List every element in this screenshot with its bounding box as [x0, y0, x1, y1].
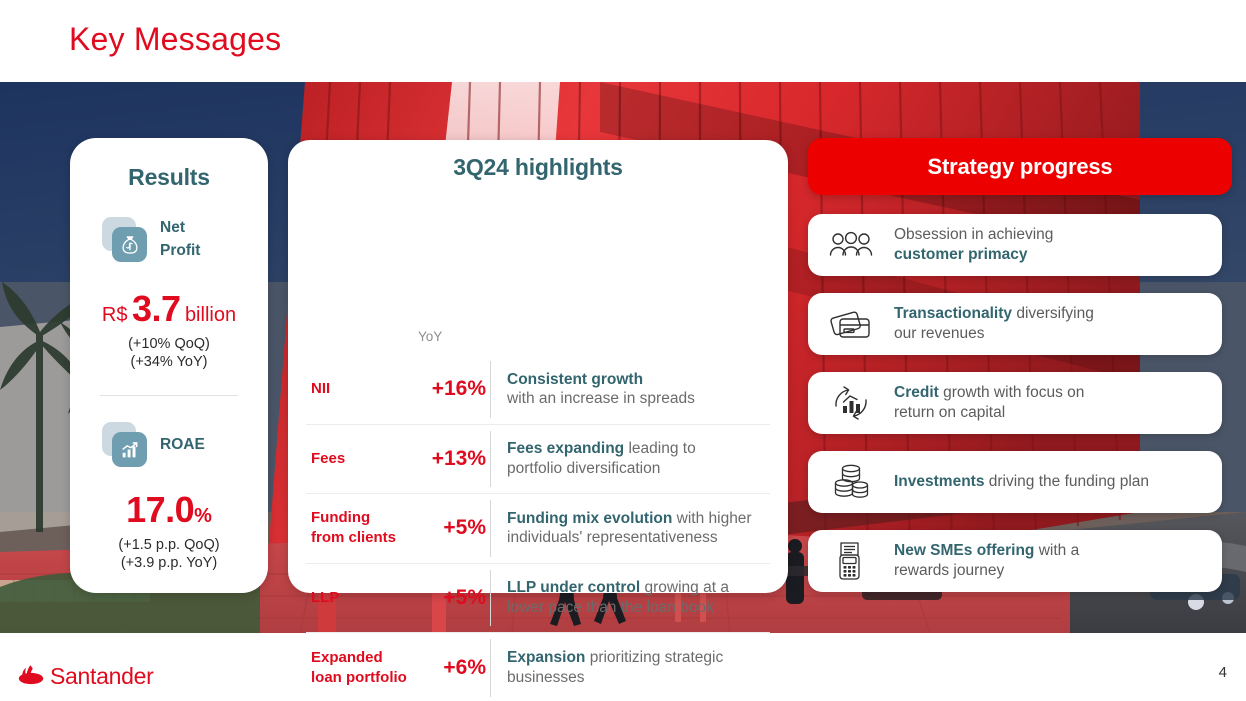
metric-net-profit-header: Net Profit — [82, 217, 256, 262]
highlight-description: Funding mix evolution with higher indivi… — [491, 509, 752, 548]
highlight-description: LLP under control growing at a lower pac… — [491, 578, 729, 617]
results-card-divider — [100, 395, 238, 396]
highlight-label: Expanded loan portfolio — [306, 648, 412, 688]
money-bag-icon — [102, 217, 147, 262]
highlight-description: Consistent growth with an increase in sp… — [491, 370, 695, 409]
highlight-percent: +13% — [412, 447, 490, 471]
list-item-text: Transactionality diversifying our revenu… — [878, 304, 1094, 345]
people-group-icon — [824, 230, 878, 260]
metric-roae-header: ROAE — [82, 422, 256, 467]
highlights-card: 3Q24 highlights YoY NII +16% Consistent … — [288, 140, 788, 593]
table-row: Expanded loan portfolio +6% Expansion pr… — [306, 633, 770, 701]
credit-growth-cycle-icon — [824, 384, 878, 422]
highlight-label: LLP — [306, 588, 412, 608]
page-title: Key Messages — [69, 19, 281, 59]
roae-unit: % — [194, 505, 212, 527]
metric-net-profit-value: R$ 3.7 billion — [82, 288, 256, 330]
highlight-description: Expansion prioritizing strategic busines… — [491, 648, 723, 687]
credit-cards-icon — [824, 308, 878, 340]
metric-roae-sub: (+1.5 p.p. QoQ) (+3.9 p.p. YoY) — [82, 536, 256, 572]
list-item-text: Credit growth with focus on return on ca… — [878, 383, 1084, 424]
results-card: Results Net Profit R$ — [70, 138, 268, 593]
strategy-progress-list: Obsession in achieving customer primacy … — [808, 214, 1222, 609]
highlight-percent: +5% — [412, 586, 490, 610]
results-card-title: Results — [82, 164, 256, 191]
table-row: Funding from clients +5% Funding mix evo… — [306, 494, 770, 564]
highlight-percent: +6% — [412, 656, 490, 680]
page-number: 4 — [1219, 664, 1227, 681]
list-item[interactable]: Credit growth with focus on return on ca… — [808, 372, 1222, 434]
santander-flame-icon — [18, 662, 44, 691]
highlights-rows: NII +16% Consistent growth with an incre… — [306, 355, 770, 585]
list-item[interactable]: New SMEs offering with a rewards journey — [808, 530, 1222, 592]
table-row: NII +16% Consistent growth with an incre… — [306, 355, 770, 425]
metric-roae-value: 17.0% — [82, 489, 256, 531]
metric-net-profit-label: Net Profit — [160, 217, 200, 262]
strategy-progress-header: Strategy progress — [808, 138, 1232, 195]
bar-chart-growth-icon — [102, 422, 147, 467]
highlights-column-label: YoY — [418, 329, 442, 344]
santander-logo: Santander — [18, 662, 153, 691]
roae-number: 17.0 — [126, 489, 194, 530]
list-item[interactable]: Transactionality diversifying our revenu… — [808, 293, 1222, 355]
slide-root: Key Messages — [0, 0, 1246, 701]
coin-stacks-icon — [824, 463, 878, 501]
table-row: Fees +13% Fees expanding leading to port… — [306, 425, 770, 495]
highlight-label: NII — [306, 379, 412, 399]
highlight-description: Fees expanding leading to portfolio dive… — [491, 439, 696, 478]
net-profit-unit: billion — [185, 304, 236, 326]
list-item[interactable]: Obsession in achieving customer primacy — [808, 214, 1222, 276]
metric-net-profit-sub: (+10% QoQ) (+34% YoY) — [82, 335, 256, 371]
highlight-percent: +5% — [412, 516, 490, 540]
pos-terminal-receipt-icon — [824, 540, 878, 582]
santander-wordmark: Santander — [50, 665, 153, 688]
table-row: LLP +5% LLP under control growing at a l… — [306, 564, 770, 634]
net-profit-currency: R$ — [102, 304, 128, 326]
highlight-label: Funding from clients — [306, 508, 412, 548]
list-item-text: New SMEs offering with a rewards journey — [878, 541, 1079, 582]
list-item-text: Investments driving the funding plan — [878, 472, 1149, 492]
list-item-text: Obsession in achieving customer primacy — [878, 225, 1053, 266]
metric-roae-label: ROAE — [160, 434, 205, 456]
highlight-percent: +16% — [412, 377, 490, 401]
list-item[interactable]: Investments driving the funding plan — [808, 451, 1222, 513]
net-profit-number: 3.7 — [132, 288, 181, 329]
highlights-card-title: 3Q24 highlights — [306, 154, 770, 181]
highlight-label: Fees — [306, 449, 412, 469]
